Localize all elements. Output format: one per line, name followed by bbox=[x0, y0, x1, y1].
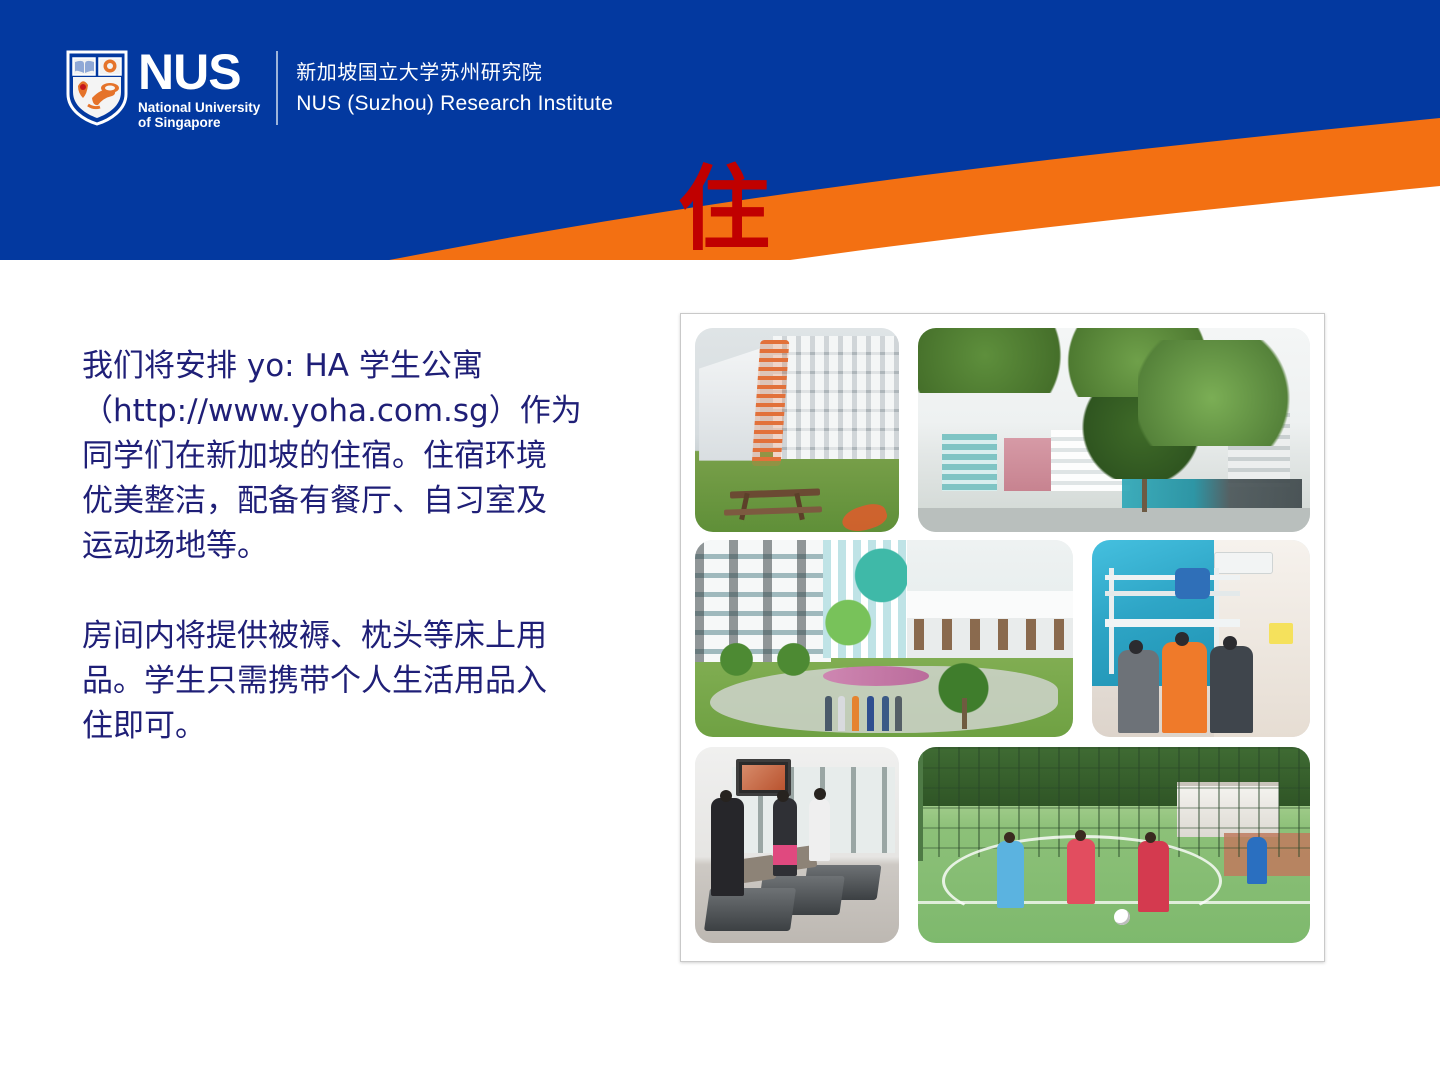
collage-row-middle bbox=[695, 540, 1310, 737]
institute-name-en: NUS (Suzhou) Research Institute bbox=[296, 90, 613, 117]
photo-dorm-room bbox=[1092, 540, 1310, 737]
collage-row-bottom bbox=[695, 747, 1310, 943]
institute-name-block: 新加坡国立大学苏州研究院 NUS (Suzhou) Research Insti… bbox=[296, 49, 613, 127]
nus-wordmark: NUS bbox=[138, 47, 260, 97]
page-title: 住 bbox=[0, 160, 1440, 260]
nus-tagline: National University of Singapore bbox=[138, 100, 260, 130]
photo-courtyard bbox=[695, 540, 1073, 737]
nus-crest-icon bbox=[66, 50, 128, 126]
photo-hostel-block bbox=[695, 328, 899, 532]
body-copy: 我们将安排 yo: HA 学生公寓 （http://www.yoha.com.s… bbox=[82, 344, 642, 749]
photo-gym bbox=[695, 747, 899, 943]
paragraph-bedding: 房间内将提供被褥、枕头等床上用 品。学生只需携带个人生活用品入 住即可。 bbox=[82, 614, 642, 749]
paragraph-spacer bbox=[82, 569, 642, 614]
nus-wordmark-block: NUS National University of Singapore bbox=[138, 49, 260, 127]
paragraph-accommodation: 我们将安排 yo: HA 学生公寓 （http://www.yoha.com.s… bbox=[82, 344, 642, 569]
institute-name-cn: 新加坡国立大学苏州研究院 bbox=[296, 59, 613, 85]
photo-collage bbox=[680, 313, 1325, 962]
nus-logo-lockup: NUS National University of Singapore 新加坡… bbox=[66, 42, 613, 134]
photo-campus-trees bbox=[918, 328, 1310, 532]
logo-divider bbox=[276, 51, 278, 125]
photo-soccer-field bbox=[918, 747, 1310, 943]
collage-row-top bbox=[695, 328, 1310, 532]
